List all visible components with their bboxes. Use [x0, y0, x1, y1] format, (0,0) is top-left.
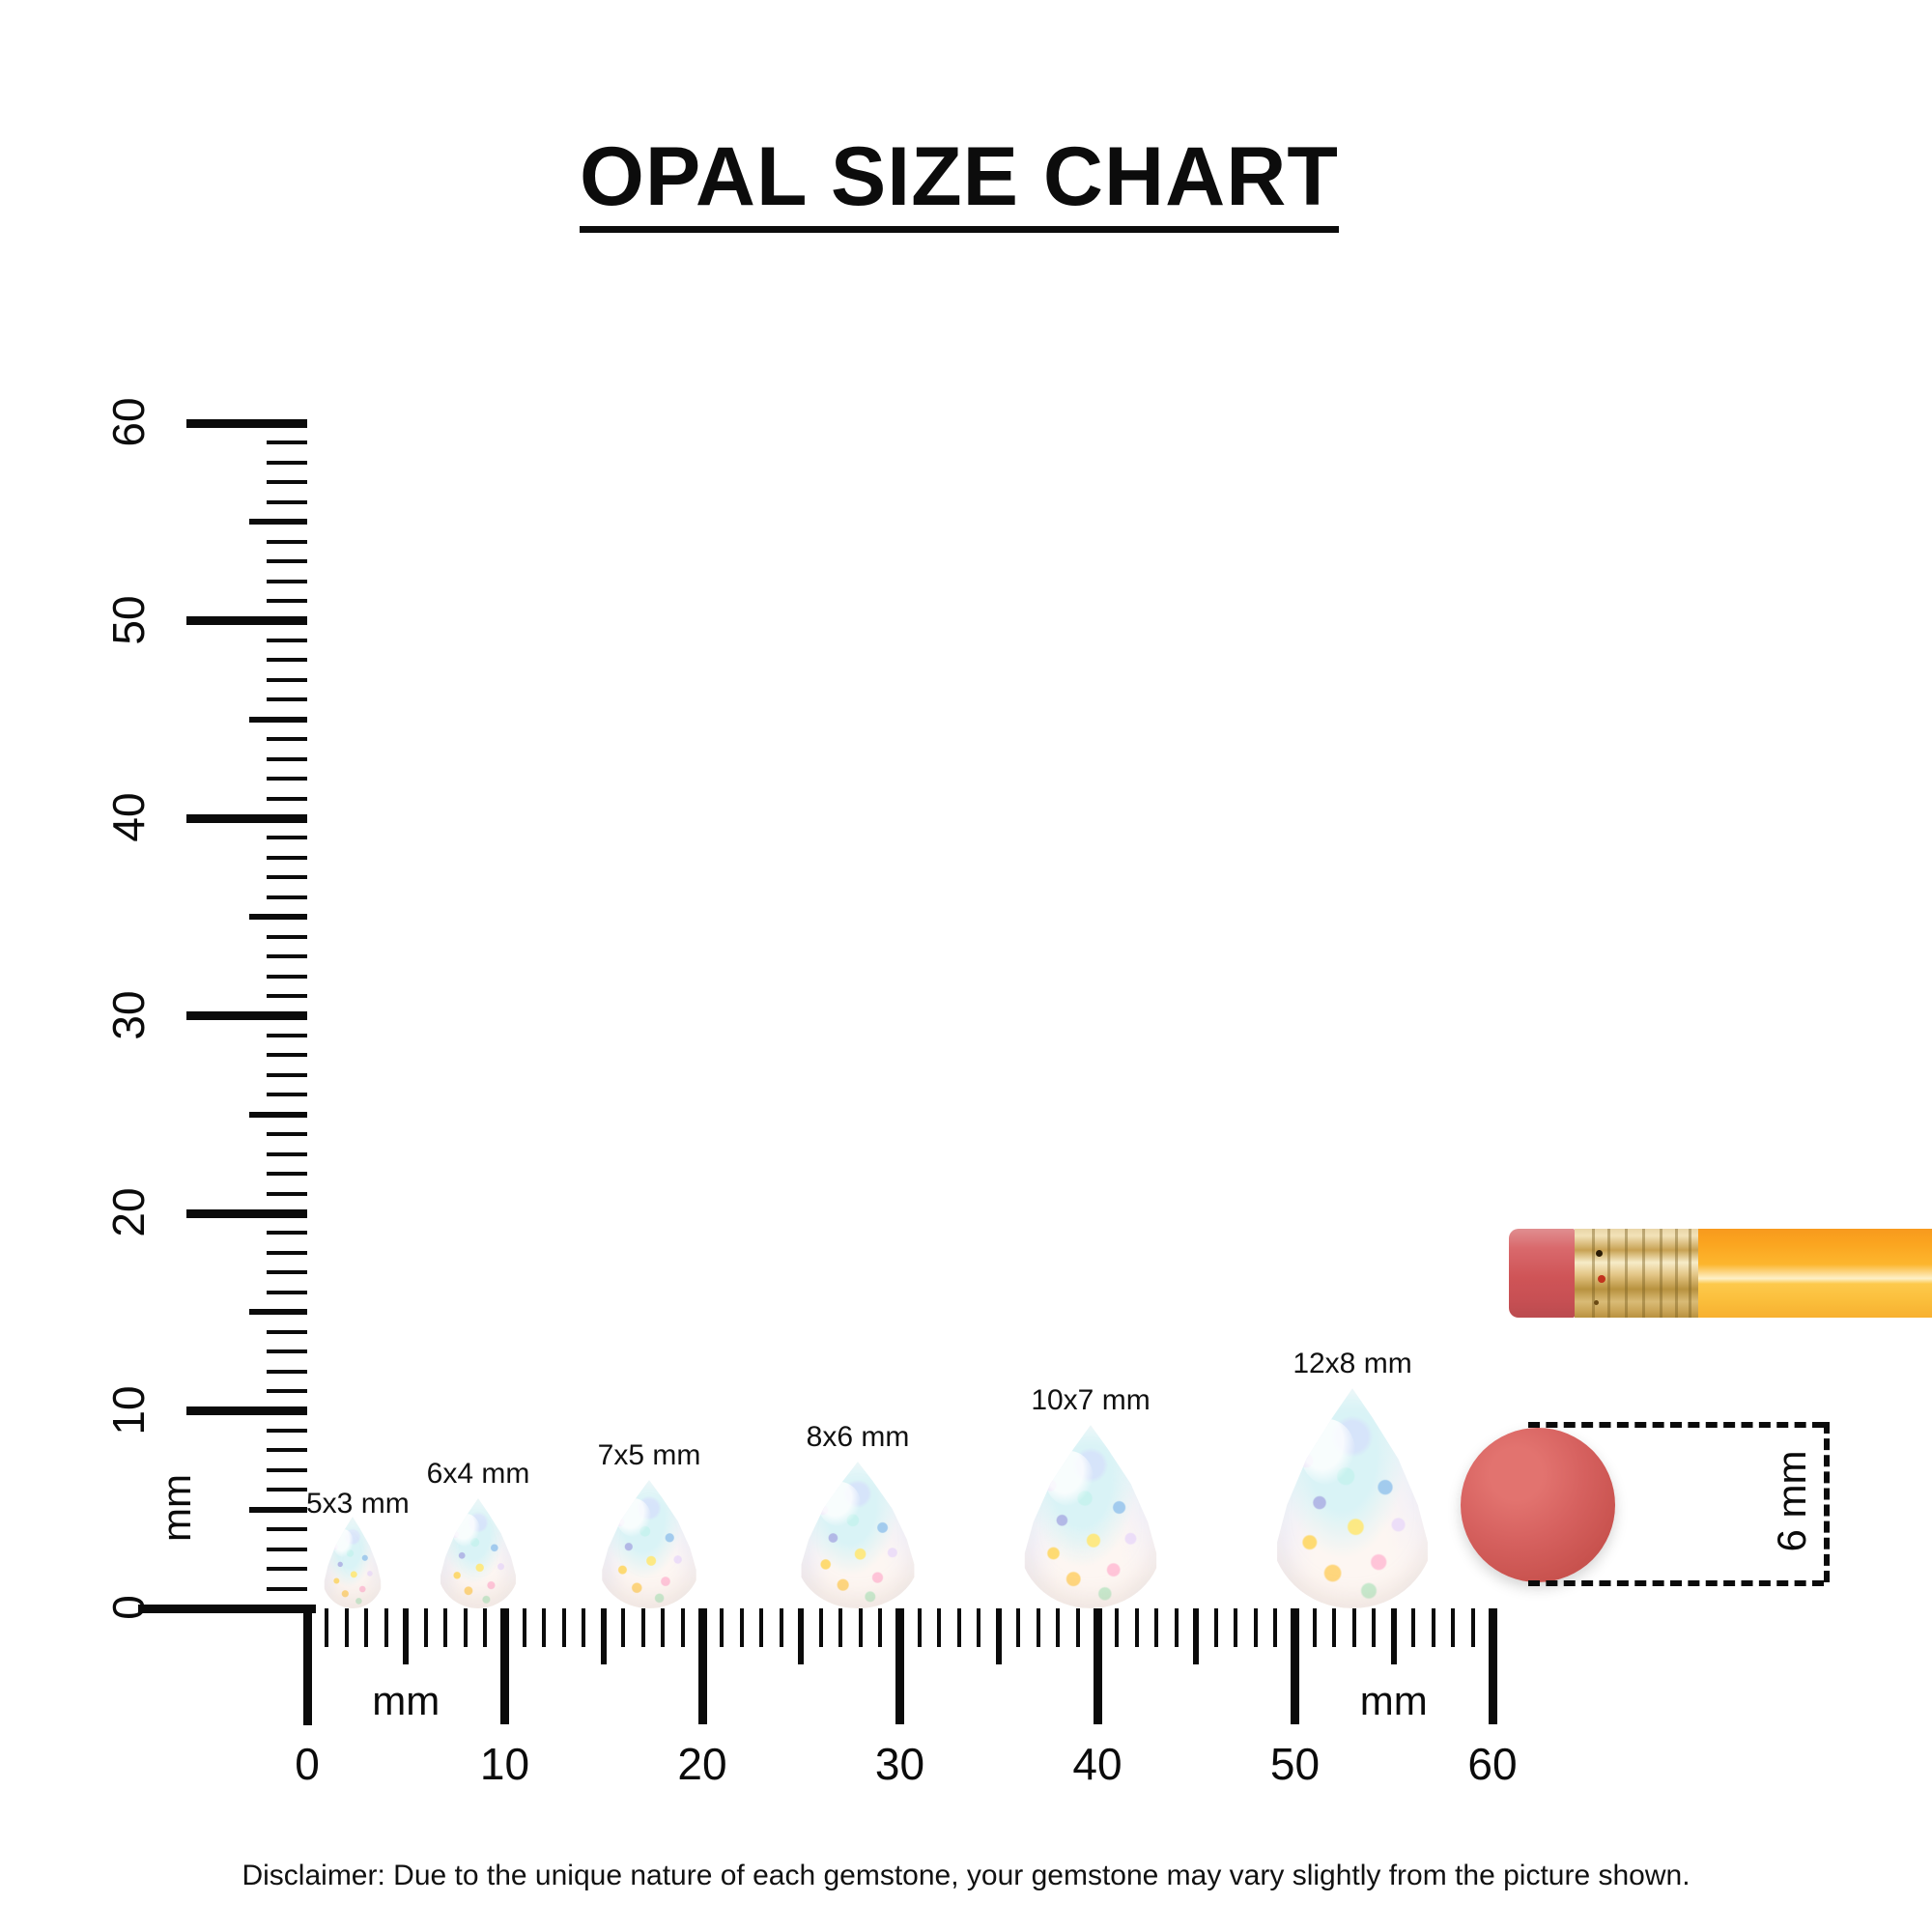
dimension-line-right [1824, 1422, 1830, 1582]
axis-origin-line-horizontal [138, 1605, 316, 1613]
vertical-ruler-tick [267, 1548, 307, 1551]
pencil-reference [1509, 1229, 1932, 1318]
pencil-body [1698, 1229, 1932, 1318]
horizontal-ruler-tick [523, 1608, 526, 1647]
vertical-ruler-tick [267, 440, 307, 444]
horizontal-ruler-tick [1016, 1608, 1020, 1647]
gemstone-label: 7x5 mm [543, 1439, 755, 1472]
vertical-ruler-tick [267, 1587, 307, 1591]
vertical-ruler-label: 30 [102, 969, 155, 1062]
horizontal-ruler-tick [661, 1608, 665, 1647]
vertical-ruler-tick [267, 580, 307, 583]
vertical-ruler-tick [267, 856, 307, 860]
horizontal-ruler-tick [1352, 1608, 1356, 1647]
horizontal-ruler-tick [780, 1608, 783, 1647]
horizontal-ruler-tick [1411, 1608, 1415, 1647]
horizontal-ruler-tick [384, 1608, 388, 1647]
horizontal-ruler-tick [325, 1608, 328, 1647]
vertical-ruler-tick [267, 559, 307, 563]
vertical-ruler-tick [267, 639, 307, 642]
horizontal-ruler-tick [720, 1608, 724, 1647]
vertical-ruler-tick [267, 954, 307, 958]
horizontal-ruler-tick [1451, 1608, 1455, 1647]
horizontal-ruler-tick [1214, 1608, 1218, 1647]
horizontal-ruler-tick [957, 1608, 961, 1647]
vertical-ruler-tick [267, 975, 307, 979]
vertical-ruler-tick [249, 1507, 307, 1513]
horizontal-ruler-tick [698, 1608, 707, 1724]
dimension-line-top [1528, 1422, 1824, 1428]
vertical-ruler-label: 10 [102, 1364, 155, 1457]
gemstone-8x6 [796, 1462, 919, 1608]
horizontal-ruler-label: 40 [1030, 1738, 1165, 1790]
horizontal-ruler-tick [403, 1608, 409, 1664]
horizontal-ruler-tick [1056, 1608, 1060, 1647]
pencil-ferrule-ridge [1675, 1229, 1678, 1318]
opal-pear-cabochon [598, 1480, 700, 1608]
pencil-ferrule-dot [1596, 1250, 1603, 1257]
gemstone-5x3 [322, 1517, 384, 1608]
horizontal-ruler-label: 30 [833, 1738, 968, 1790]
pencil-ferrule-ridge [1660, 1229, 1662, 1318]
vertical-ruler-tick [267, 1093, 307, 1096]
vertical-ruler-tick [249, 717, 307, 723]
horizontal-ruler-label: 60 [1425, 1738, 1560, 1790]
vertical-ruler-tick [249, 519, 307, 525]
dimension-label-6mm: 6 mm [1769, 1429, 1815, 1574]
vertical-ruler-tick [267, 994, 307, 998]
vertical-ruler-tick [267, 678, 307, 682]
vertical-ruler-tick [267, 1073, 307, 1077]
vertical-ruler-tick [267, 1567, 307, 1571]
horizontal-ruler-tick [601, 1608, 607, 1664]
horizontal-ruler-tick [1391, 1608, 1397, 1664]
vertical-ruler-tick [267, 1527, 307, 1531]
horizontal-ruler-tick [1254, 1608, 1258, 1647]
horizontal-ruler-tick [1037, 1608, 1040, 1647]
vertical-ruler-tick [267, 1330, 307, 1334]
vertical-ruler-tick [267, 1053, 307, 1057]
gemstone-6x4 [438, 1498, 520, 1608]
horizontal-ruler-tick [918, 1608, 922, 1647]
axis-origin-line-vertical [303, 1605, 312, 1725]
opal-pear-cabochon [796, 1462, 919, 1608]
vertical-ruler-tick [267, 1429, 307, 1433]
pencil-ferrule [1575, 1229, 1698, 1318]
horizontal-ruler-tick [740, 1608, 744, 1647]
vertical-ruler-tick [267, 935, 307, 939]
eraser-disc-reference [1461, 1428, 1615, 1582]
vertical-ruler-tick [267, 1448, 307, 1452]
vertical-ruler-tick [267, 777, 307, 781]
vertical-ruler-label: 60 [102, 376, 155, 469]
vertical-ruler-tick [267, 540, 307, 544]
horizontal-ruler-tick [1471, 1608, 1475, 1647]
horizontal-ruler-tick [621, 1608, 625, 1647]
horizontal-ruler-tick [819, 1608, 823, 1647]
horizontal-ruler-tick [1372, 1608, 1376, 1647]
gemstone-label: 8x6 mm [752, 1421, 964, 1454]
pencil-ferrule-dot [1594, 1300, 1599, 1305]
vertical-ruler-tick [267, 1034, 307, 1037]
horizontal-ruler-tick [1489, 1608, 1497, 1724]
opal-pear-cabochon [1270, 1388, 1434, 1608]
vertical-ruler-tick [267, 1370, 307, 1374]
vertical-ruler-tick [267, 1152, 307, 1156]
vertical-ruler-tick [267, 658, 307, 662]
horizontal-ruler-tick [1432, 1608, 1435, 1647]
horizontal-ruler-tick [1094, 1608, 1102, 1724]
horizontal-ruler-tick [1332, 1608, 1336, 1647]
vertical-ruler-unit-label: mm [154, 1462, 200, 1554]
pencil-ferrule-ridge [1642, 1229, 1645, 1318]
vertical-ruler-tick [267, 1251, 307, 1255]
horizontal-ruler-tick [1193, 1608, 1199, 1664]
horizontal-ruler-tick [582, 1608, 585, 1647]
vertical-ruler-tick [267, 1291, 307, 1294]
opal-size-chart: OPAL SIZE CHART 0102030405060mm 01020304… [0, 0, 1932, 1932]
horizontal-ruler-label: 0 [240, 1738, 375, 1790]
vertical-ruler-tick [186, 616, 307, 625]
pencil-ferrule-dot [1598, 1275, 1605, 1283]
vertical-ruler-tick [249, 1112, 307, 1118]
vertical-ruler-tick [267, 1231, 307, 1235]
horizontal-ruler-tick [483, 1608, 487, 1647]
horizontal-ruler-tick [1115, 1608, 1119, 1647]
horizontal-ruler-tick [996, 1608, 1002, 1664]
horizontal-ruler-label: 50 [1228, 1738, 1363, 1790]
vertical-ruler-tick [267, 1132, 307, 1136]
horizontal-ruler-tick [1273, 1608, 1277, 1647]
horizontal-ruler-tick [464, 1608, 468, 1647]
horizontal-ruler-tick [937, 1608, 941, 1647]
vertical-ruler-tick [267, 1488, 307, 1492]
vertical-ruler-tick [267, 461, 307, 465]
vertical-ruler-tick [267, 1350, 307, 1353]
pencil-ferrule-ridge [1625, 1229, 1628, 1318]
gemstone-12x8 [1270, 1388, 1434, 1608]
horizontal-ruler-tick [681, 1608, 685, 1647]
vertical-ruler-label: 40 [102, 771, 155, 864]
horizontal-ruler-tick [500, 1608, 509, 1724]
gemstone-label: 10x7 mm [984, 1384, 1197, 1417]
horizontal-ruler-tick [1175, 1608, 1179, 1647]
vertical-ruler-tick [267, 1270, 307, 1274]
horizontal-ruler: 0102030405060mmmm [0, 0, 1932, 251]
vertical-ruler-tick [267, 836, 307, 839]
horizontal-ruler-tick [1291, 1608, 1299, 1724]
vertical-ruler-tick [267, 500, 307, 504]
horizontal-ruler-unit-label-left: mm [338, 1678, 473, 1724]
horizontal-ruler-tick [798, 1608, 804, 1664]
vertical-ruler-tick [267, 697, 307, 701]
pencil-ferrule-ridge [1689, 1229, 1691, 1318]
vertical-ruler-tick [186, 1209, 307, 1218]
vertical-ruler-tick [186, 814, 307, 823]
vertical-ruler-tick [267, 875, 307, 879]
horizontal-ruler-tick [364, 1608, 368, 1647]
vertical-ruler-tick [186, 1406, 307, 1415]
opal-pear-cabochon [322, 1517, 384, 1608]
opal-pear-cabochon [1019, 1425, 1162, 1608]
horizontal-ruler-label: 20 [635, 1738, 770, 1790]
horizontal-ruler-tick [641, 1608, 645, 1647]
vertical-ruler-tick [186, 419, 307, 428]
vertical-ruler-tick [267, 1389, 307, 1393]
dimension-line-bottom [1528, 1580, 1824, 1586]
vertical-ruler-tick [186, 1011, 307, 1020]
disclaimer-text: Disclaimer: Due to the unique nature of … [0, 1860, 1932, 1892]
vertical-ruler-tick [267, 895, 307, 899]
horizontal-ruler-tick [562, 1608, 566, 1647]
horizontal-ruler-tick [345, 1608, 349, 1647]
horizontal-ruler-tick [859, 1608, 863, 1647]
gemstone-7x5 [598, 1480, 700, 1608]
horizontal-ruler-tick [1234, 1608, 1237, 1647]
pencil-eraser [1509, 1229, 1575, 1318]
horizontal-ruler-tick [1076, 1608, 1080, 1647]
opal-pear-cabochon [438, 1498, 520, 1608]
vertical-ruler-tick [267, 1468, 307, 1472]
vertical-ruler-tick [267, 737, 307, 741]
vertical-ruler-tick [267, 797, 307, 801]
horizontal-ruler-tick [977, 1608, 980, 1647]
gemstone-10x7 [1019, 1425, 1162, 1608]
horizontal-ruler-tick [1313, 1608, 1317, 1647]
vertical-ruler-label: 20 [102, 1166, 155, 1259]
vertical-ruler-tick [267, 757, 307, 761]
vertical-ruler-tick [267, 1172, 307, 1176]
horizontal-ruler-tick [1154, 1608, 1158, 1647]
horizontal-ruler-tick [443, 1608, 447, 1647]
horizontal-ruler-tick [895, 1608, 904, 1724]
pencil-ferrule-ridge [1607, 1229, 1610, 1318]
horizontal-ruler-label: 10 [438, 1738, 573, 1790]
vertical-ruler-tick [249, 914, 307, 920]
horizontal-ruler-unit-label-right: mm [1326, 1678, 1462, 1724]
horizontal-ruler-tick [424, 1608, 428, 1647]
horizontal-ruler-tick [838, 1608, 842, 1647]
horizontal-ruler-tick [878, 1608, 882, 1647]
vertical-ruler-tick [267, 480, 307, 484]
horizontal-ruler-tick [1135, 1608, 1139, 1647]
vertical-ruler-tick [267, 1192, 307, 1196]
vertical-ruler-tick [249, 1309, 307, 1315]
horizontal-ruler-tick [542, 1608, 546, 1647]
gemstone-label: 12x8 mm [1246, 1348, 1459, 1380]
vertical-ruler-label: 50 [102, 574, 155, 667]
horizontal-ruler-tick [759, 1608, 763, 1647]
vertical-ruler-tick [267, 599, 307, 603]
